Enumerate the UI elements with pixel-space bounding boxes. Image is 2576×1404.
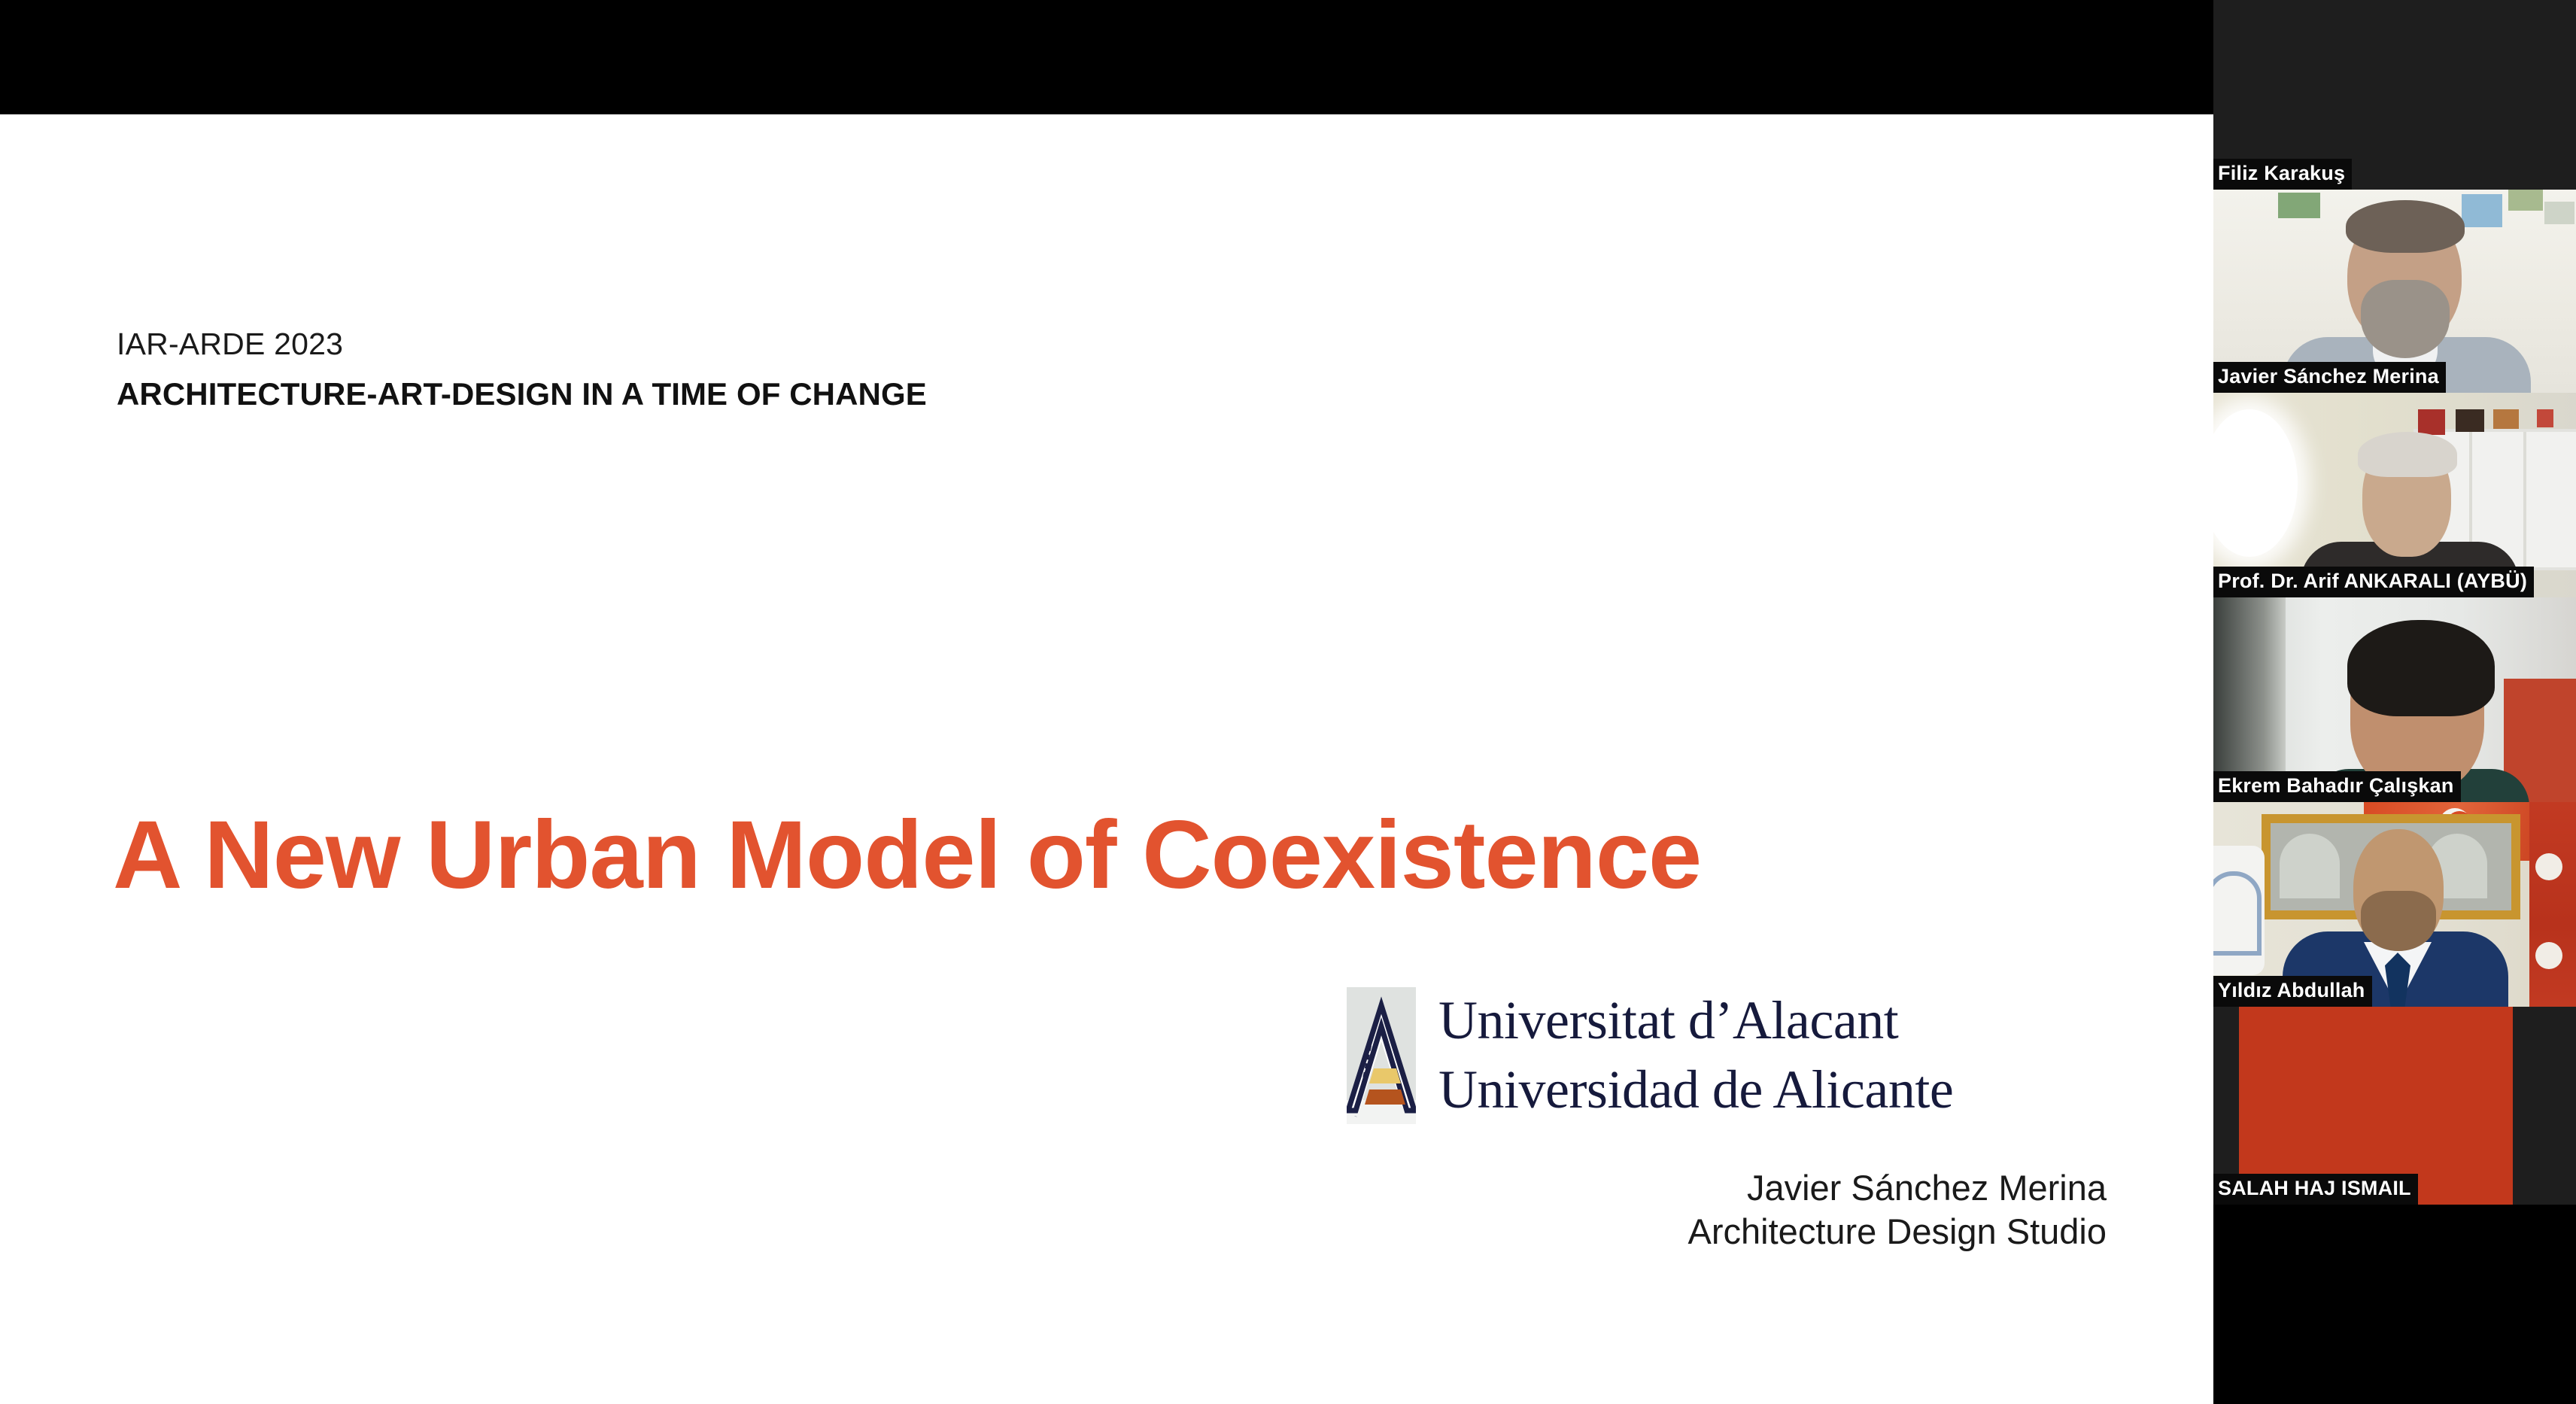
university-logo-line-1: Universitat d’Alacant bbox=[1438, 986, 1953, 1055]
video-tile-arif[interactable]: Prof. Dr. Arif ANKARALI (AYBÜ) bbox=[2213, 393, 2576, 597]
video-tile-javier[interactable]: Javier Sánchez Merina bbox=[2213, 190, 2576, 393]
screen-share-meeting-view: IAR-ARDE 2023 ARCHITECTURE-ART-DESIGN IN… bbox=[0, 0, 2576, 1404]
slide-subtitle: ARCHITECTURE-ART-DESIGN IN A TIME OF CHA… bbox=[117, 376, 927, 412]
video-tile-ekrem[interactable]: Ekrem Bahadır Çalışkan bbox=[2213, 597, 2576, 802]
university-logo: Universitat d’Alacant Universidad de Ali… bbox=[1347, 986, 2122, 1136]
university-logo-line-2: Universidad de Alicante bbox=[1438, 1055, 1953, 1124]
participant-name-label: Javier Sánchez Merina bbox=[2213, 362, 2446, 393]
participant-video-rail: Filiz Karakuş Filiz Karakuş Javier Sánch… bbox=[2213, 0, 2576, 1404]
university-logo-text: Universitat d’Alacant Universidad de Ali… bbox=[1438, 986, 1953, 1124]
participant-name-label: SALAH HAJ ISMAIL bbox=[2213, 1174, 2418, 1205]
participant-name-label: Yıldız Abdullah bbox=[2213, 976, 2372, 1007]
participant-name-label: Prof. Dr. Arif ANKARALI (AYBÜ) bbox=[2213, 567, 2534, 597]
video-tile-yildiz[interactable]: Yıldız Abdullah bbox=[2213, 802, 2576, 1007]
participant-name-label: Ekrem Bahadır Çalışkan bbox=[2213, 771, 2461, 802]
author-block: Javier Sánchez Merina Architecture Desig… bbox=[1053, 1166, 2107, 1254]
presentation-slide: IAR-ARDE 2023 ARCHITECTURE-ART-DESIGN IN… bbox=[0, 114, 2228, 1404]
slide-eyebrow: IAR-ARDE 2023 bbox=[117, 327, 343, 362]
slide-title: A New Urban Model of Coexistence bbox=[113, 805, 2144, 906]
video-tile-salah[interactable]: SALAH HAJ ISMAIL bbox=[2213, 1007, 2576, 1205]
author-affiliation: Architecture Design Studio bbox=[1053, 1210, 2107, 1254]
alicante-triangle-mark-icon bbox=[1347, 987, 1416, 1124]
video-tile-filiz[interactable]: Filiz Karakuş bbox=[2213, 0, 2576, 190]
shared-screen-stage: IAR-ARDE 2023 ARCHITECTURE-ART-DESIGN IN… bbox=[0, 0, 2228, 1404]
participant-name-label: Filiz Karakuş bbox=[2213, 159, 2352, 190]
author-name: Javier Sánchez Merina bbox=[1053, 1166, 2107, 1210]
